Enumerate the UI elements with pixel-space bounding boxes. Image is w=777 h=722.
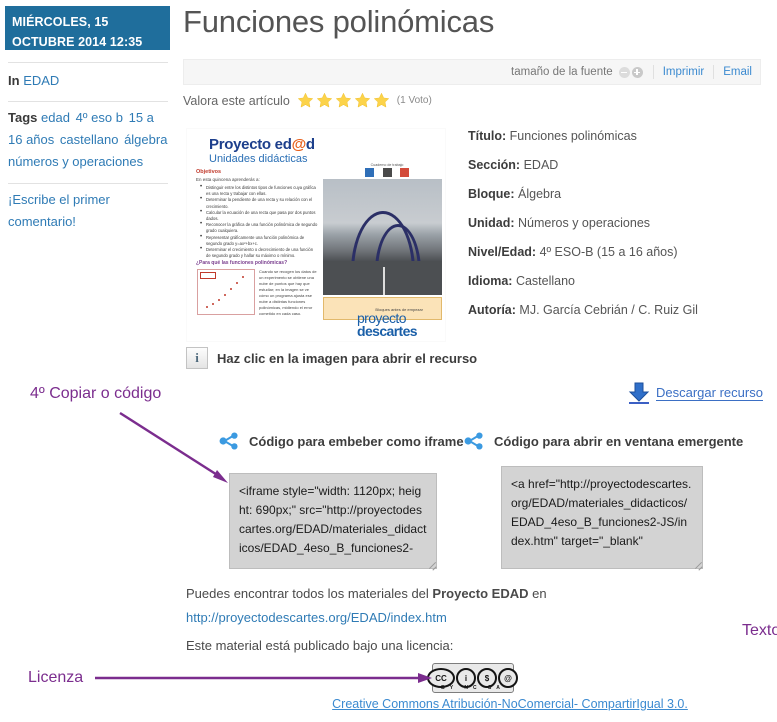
annotation-arrow-licenza [0, 0, 777, 722]
page-root: MIÉRCOLES, 15 OCTUBRE 2014 12:35 In EDAD… [0, 0, 777, 722]
annotation-texto: Texto [742, 622, 777, 640]
